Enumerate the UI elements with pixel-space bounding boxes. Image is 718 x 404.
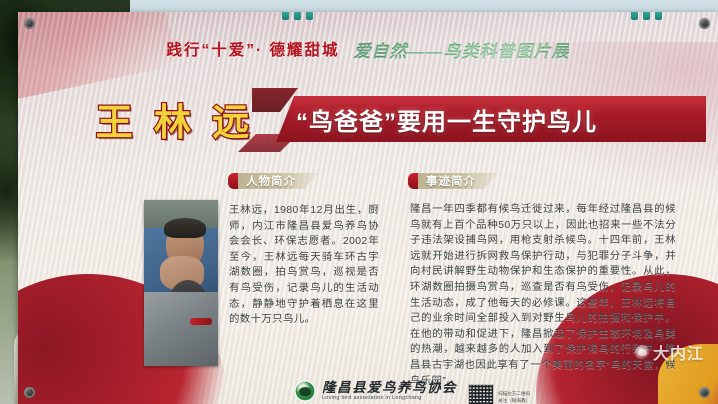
banner-header: 践行“十爱”· 德耀甜城 爱自然——鸟类科普图片展 xyxy=(18,34,718,64)
photo-scene: 践行“十爱”· 德耀甜城 爱自然——鸟类科普图片展 王 林 远 “鸟爸爸”要用一… xyxy=(0,0,718,404)
bird-emblem-icon xyxy=(294,380,316,402)
qr-caption-line1: 扫描左方二维码 xyxy=(498,390,530,397)
exhibition-title: 爱自然——鸟类科普图片展 xyxy=(353,37,569,62)
section-bead-icon xyxy=(228,173,238,189)
association-name-en: Loving bird association in Longchang xyxy=(322,396,457,402)
exhibition-banner: 践行“十爱”· 德耀甜城 爱自然——鸟类科普图片展 王 林 远 “鸟爸爸”要用一… xyxy=(18,12,718,404)
watermark: 大内江 xyxy=(635,340,704,364)
zip-tie-icon xyxy=(631,12,638,20)
qr-caption-line2: 关注（微海鑫） xyxy=(498,397,530,404)
grommet-icon xyxy=(699,387,710,398)
grommet-icon xyxy=(699,18,710,29)
photo-arm xyxy=(144,292,218,366)
photo-hair xyxy=(164,218,206,238)
campaign-slogan: 践行“十爱”· 德耀甜城 xyxy=(167,38,340,60)
wave-logo-icon xyxy=(635,345,650,360)
title-slogan: “鸟爸爸”要用一生守护鸟儿 xyxy=(296,94,696,144)
section-label: 事迹简介 xyxy=(418,173,498,189)
title-band: 王 林 远 “鸟爸爸”要用一生守护鸟儿 xyxy=(56,94,706,144)
zip-tie-icon xyxy=(294,12,301,20)
zip-tie-icon xyxy=(306,12,313,20)
grommet-icon xyxy=(24,18,35,29)
zip-tie-icon xyxy=(643,12,650,20)
grommet-icon xyxy=(24,387,35,398)
watermark-text: 大内江 xyxy=(653,340,704,364)
zip-tie-icon xyxy=(282,12,289,20)
section-label: 人物简介 xyxy=(238,173,318,189)
person-name: 王 林 远 xyxy=(68,92,283,146)
portrait-photo xyxy=(144,200,218,366)
section-header-deeds: 事迹简介 xyxy=(408,172,498,190)
profile-body-text: 王林远，1980年12月出生，厨师，内江市隆昌县爱鸟养鸟协会会长、环保志愿者。2… xyxy=(229,203,379,328)
association-name-cn: 隆昌县爱鸟养鸟协会 xyxy=(322,381,457,395)
association-block: 隆昌县爱鸟养鸟协会 Loving bird association in Lon… xyxy=(294,380,457,402)
zip-tie-icon xyxy=(655,12,662,20)
qr-block: 扫描左方二维码 关注（微海鑫） xyxy=(468,384,530,404)
photo-red-bracelet xyxy=(190,318,212,325)
section-bead-icon xyxy=(408,173,418,189)
qr-code-icon xyxy=(468,384,494,404)
section-header-profile: 人物简介 xyxy=(228,172,318,190)
